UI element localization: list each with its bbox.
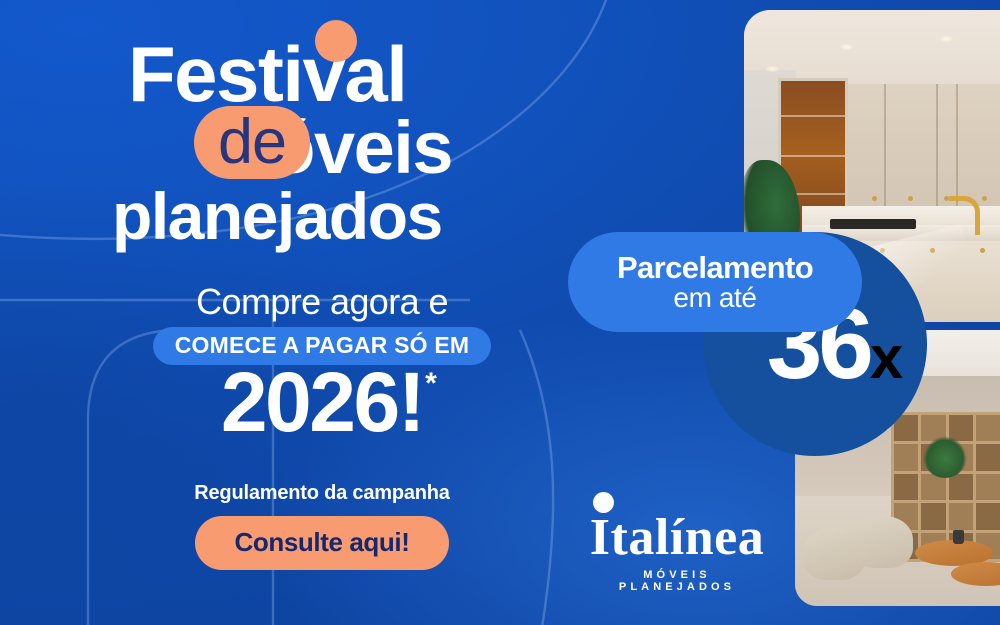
installments-pill-line2: em até [673, 283, 756, 312]
headline-block: Festival de móveis planejados [112, 38, 532, 248]
brand-logo-text: Italínea [590, 509, 764, 566]
cta-block: Regulamento da campanha Consulte aqui! [112, 482, 532, 570]
brand-tagline: MÓVEIS PLANEJADOS [582, 569, 772, 593]
offer-block: Compre agora e COMECE A PAGAR SÓ EM 2026… [112, 283, 532, 443]
headline-line-planejados: planejados [112, 186, 532, 247]
logo-dot-icon [593, 492, 614, 513]
cta-label: Regulamento da campanha [112, 482, 532, 505]
installments-pill-line1: Parcelamento [617, 252, 813, 284]
headline-line-moveis: de móveis [206, 114, 532, 183]
de-pill-badge: de [194, 106, 310, 179]
consulte-aqui-button[interactable]: Consulte aqui! [195, 516, 450, 570]
brand-logo: Italínea MÓVEIS PLANEJADOS [582, 512, 772, 593]
brand-logo-word: Italínea [590, 512, 764, 564]
orange-dot-icon [315, 20, 357, 62]
installments-suffix: x [870, 324, 901, 391]
installments-pill: Parcelamento em até [568, 232, 862, 332]
de-pill-text: de [218, 111, 286, 174]
offer-year-wrap: 2026!* [112, 363, 532, 443]
offer-asterisk: * [425, 369, 437, 399]
offer-top-text: Compre agora e [112, 283, 532, 321]
offer-year: 2026! [221, 355, 423, 449]
headline-line-festival: Festival [128, 38, 532, 111]
promo-banner: 36x Parcelamento em até Festival de móve… [0, 0, 1000, 625]
